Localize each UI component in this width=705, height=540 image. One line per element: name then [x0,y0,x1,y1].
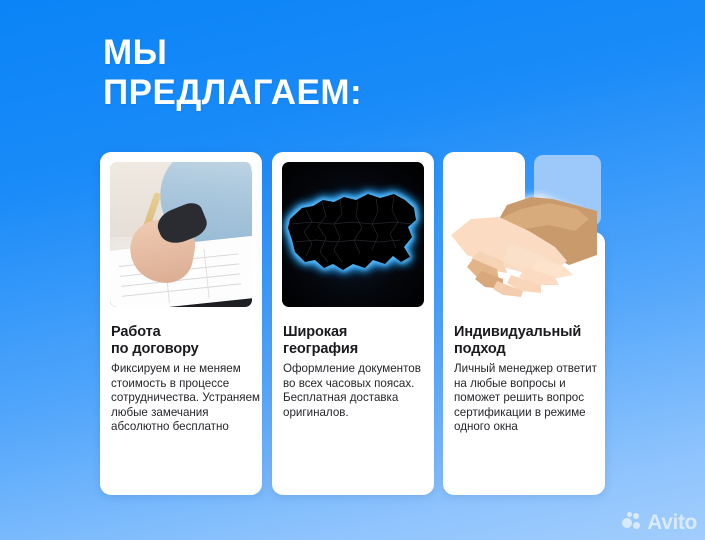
page-title: МЫ ПРЕДЛАГАЕМ: [103,33,523,113]
handshake-illustration [449,189,597,299]
feature-card-title-line-2: география [283,341,358,357]
document-signing-photo [110,162,252,307]
feature-card-body: Фиксируем и не меняем стоимость в процес… [111,362,262,435]
feature-card-body: Оформление документов во всех часовых по… [283,362,434,420]
russia-map-glow-image [282,162,424,307]
avito-watermark: Avito [622,512,697,533]
feature-card-title-line-2: подход [454,341,506,357]
feature-card-body: Личный менеджер ответит на любые вопросы… [454,362,606,435]
page-title-line-2: ПРЕДЛАГАЕМ: [103,73,523,113]
page-title-line-1: МЫ [103,33,523,73]
feature-card-title-line-1: Работа [111,324,161,340]
feature-card-contract[interactable]: Работа по договору Фиксируем и не меняем… [100,152,262,495]
feature-card-title: Работа по договору [111,324,261,358]
feature-card-title-line-1: Широкая [283,324,347,340]
avito-dots-logo [622,512,643,533]
feature-card-title: Широкая география [283,324,433,358]
feature-card-geography[interactable]: Широкая география Оформление документов … [272,152,434,495]
feature-card-title: Индивидуальный подход [454,324,614,358]
avito-wordmark: Avito [647,512,697,533]
promo-banner: МЫ ПРЕДЛАГАЕМ: [0,0,705,540]
feature-card-title-line-2: по договору [111,341,199,357]
russia-map-icon [282,162,424,307]
feature-card-title-line-1: Индивидуальный [454,324,581,340]
